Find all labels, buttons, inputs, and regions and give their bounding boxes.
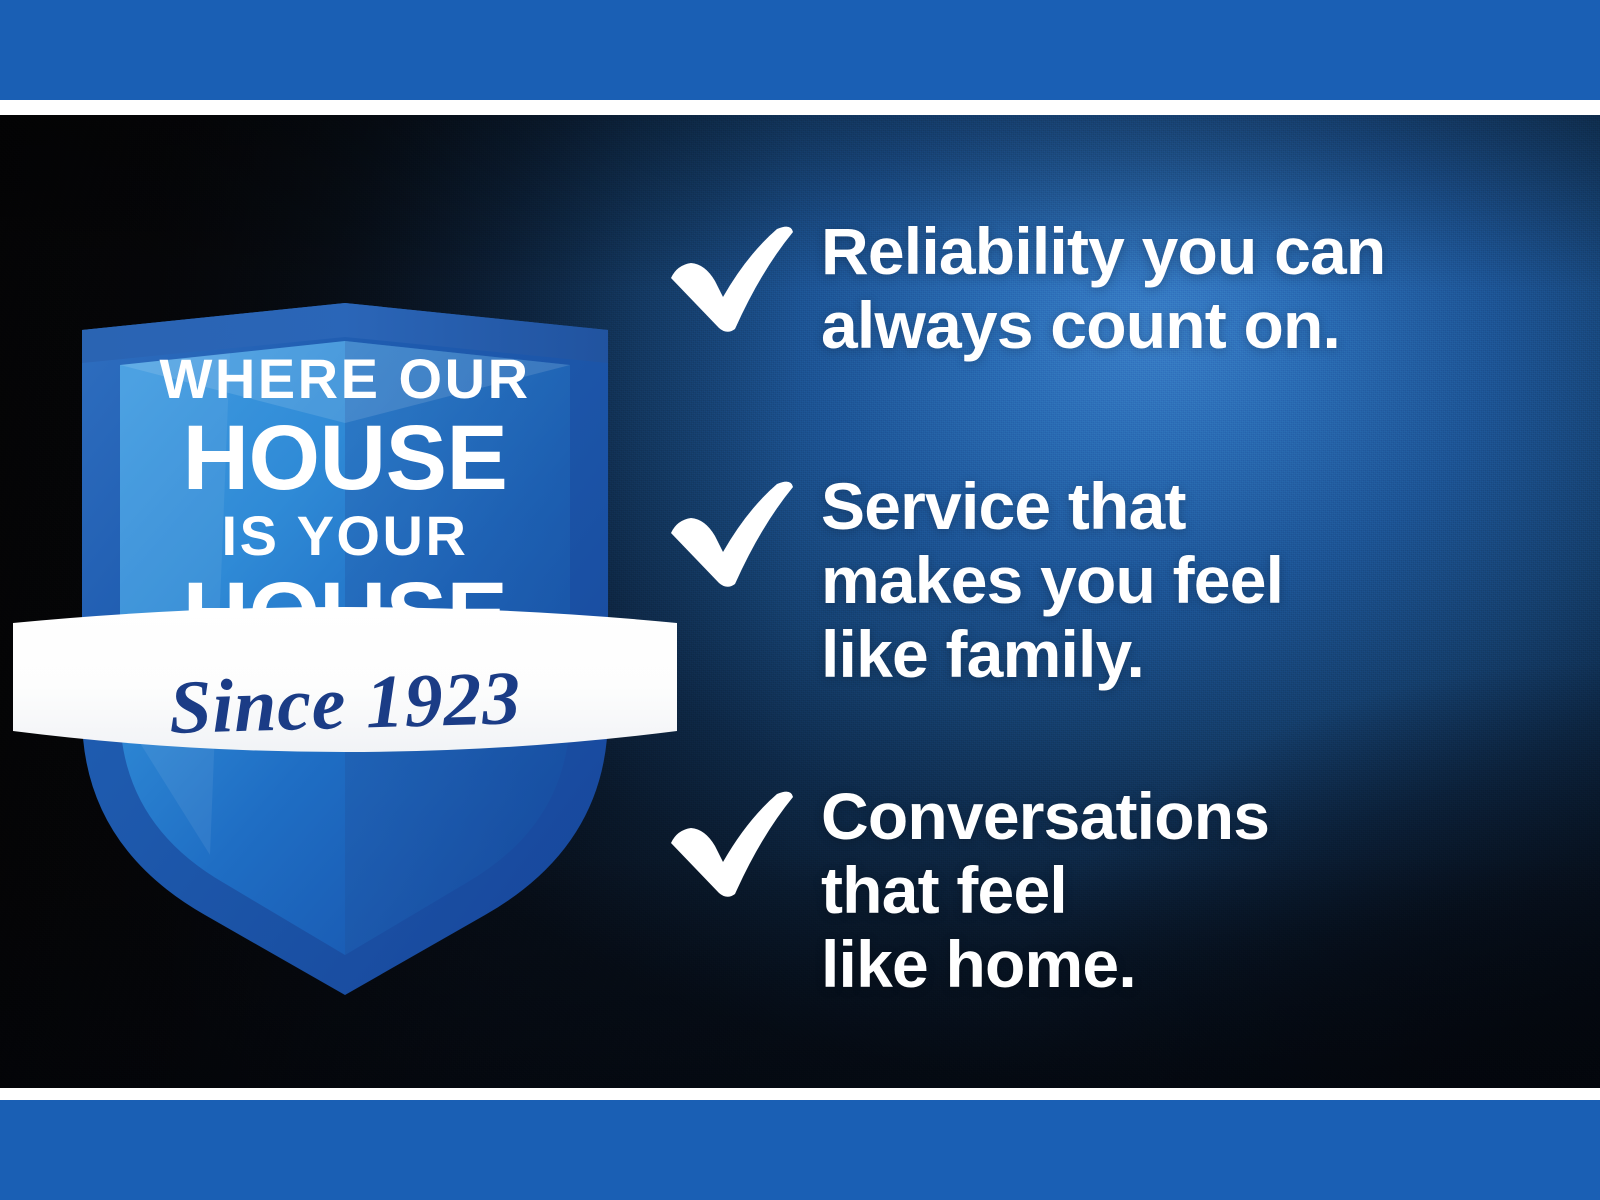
checklist-item-text: Service that makes you feel like family.: [821, 470, 1283, 692]
shield-badge: WHERE OUR HOUSE IS YOUR HOUSE Since 1923: [60, 155, 630, 945]
bottom-brand-bar: [0, 1100, 1600, 1200]
benefits-checklist: Reliability you can always count on. Ser…: [665, 115, 1545, 1088]
checklist-item-text: Reliability you can always count on.: [821, 215, 1385, 363]
promotional-poster: WHERE OUR HOUSE IS YOUR HOUSE Since 1923…: [0, 0, 1600, 1200]
checklist-item-text: Conversations that feel like home.: [821, 780, 1269, 1002]
checklist-item: Reliability you can always count on.: [665, 215, 1545, 363]
check-icon: [665, 223, 795, 335]
ribbon-band: [5, 595, 685, 775]
checklist-item: Conversations that feel like home.: [665, 780, 1545, 1002]
top-brand-bar: [0, 0, 1600, 100]
check-icon: [665, 478, 795, 590]
check-icon: [665, 788, 795, 900]
checklist-item: Service that makes you feel like family.: [665, 470, 1545, 692]
